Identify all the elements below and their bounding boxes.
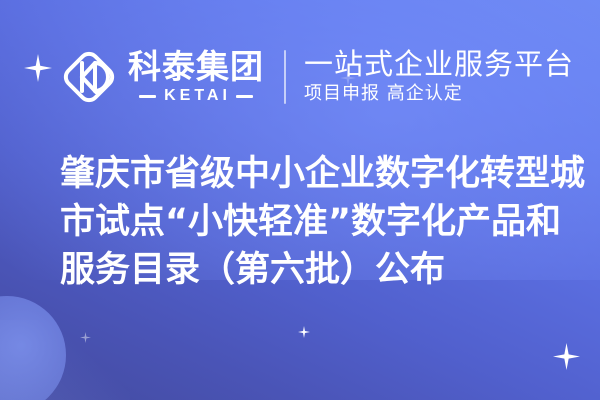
logo-english-name: KETAI xyxy=(161,88,231,104)
sparkle-icon-bottom-mid xyxy=(298,326,310,338)
banner-headline: 肇庆市省级中小企业数字化转型城 市试点“小快轻准”数字化产品和 服务目录（第六批… xyxy=(60,150,560,294)
sparkle-icon-bottom-right xyxy=(553,343,580,370)
headline-line-1: 肇庆市省级中小企业数字化转型城 xyxy=(60,150,560,198)
logo-english-row: KETAI xyxy=(139,88,253,104)
background-corner-wedge xyxy=(0,320,130,400)
header-divider xyxy=(284,50,286,104)
logo-rule-left xyxy=(139,95,156,98)
logo-sparkle-slot xyxy=(22,38,62,116)
logo-wordmark: 科泰集团 KETAI xyxy=(128,50,264,104)
sparkle-icon-bottom-left xyxy=(80,332,91,343)
tagline-secondary: 项目申报 高企认定 xyxy=(304,83,574,106)
banner-header: 科泰集团 KETAI 一站式企业服务平台 项目申报 高企认定 xyxy=(0,38,600,116)
sparkle-icon-logo-left xyxy=(24,54,52,82)
headline-line-2: 市试点“小快轻准”数字化产品和 xyxy=(60,198,560,246)
ketai-logo-mark-icon xyxy=(58,46,120,108)
logo-chinese-name: 科泰集团 xyxy=(128,50,264,83)
left-edge-glow-circle xyxy=(0,296,66,400)
logo-rule-right xyxy=(236,95,253,98)
header-tagline: 一站式企业服务平台 项目申报 高企认定 xyxy=(304,48,574,106)
tagline-primary: 一站式企业服务平台 xyxy=(304,48,574,80)
promo-banner: 科泰集团 KETAI 一站式企业服务平台 项目申报 高企认定 肇庆市省级中小企业… xyxy=(0,0,600,400)
headline-line-3: 服务目录（第六批）公布 xyxy=(60,246,560,294)
